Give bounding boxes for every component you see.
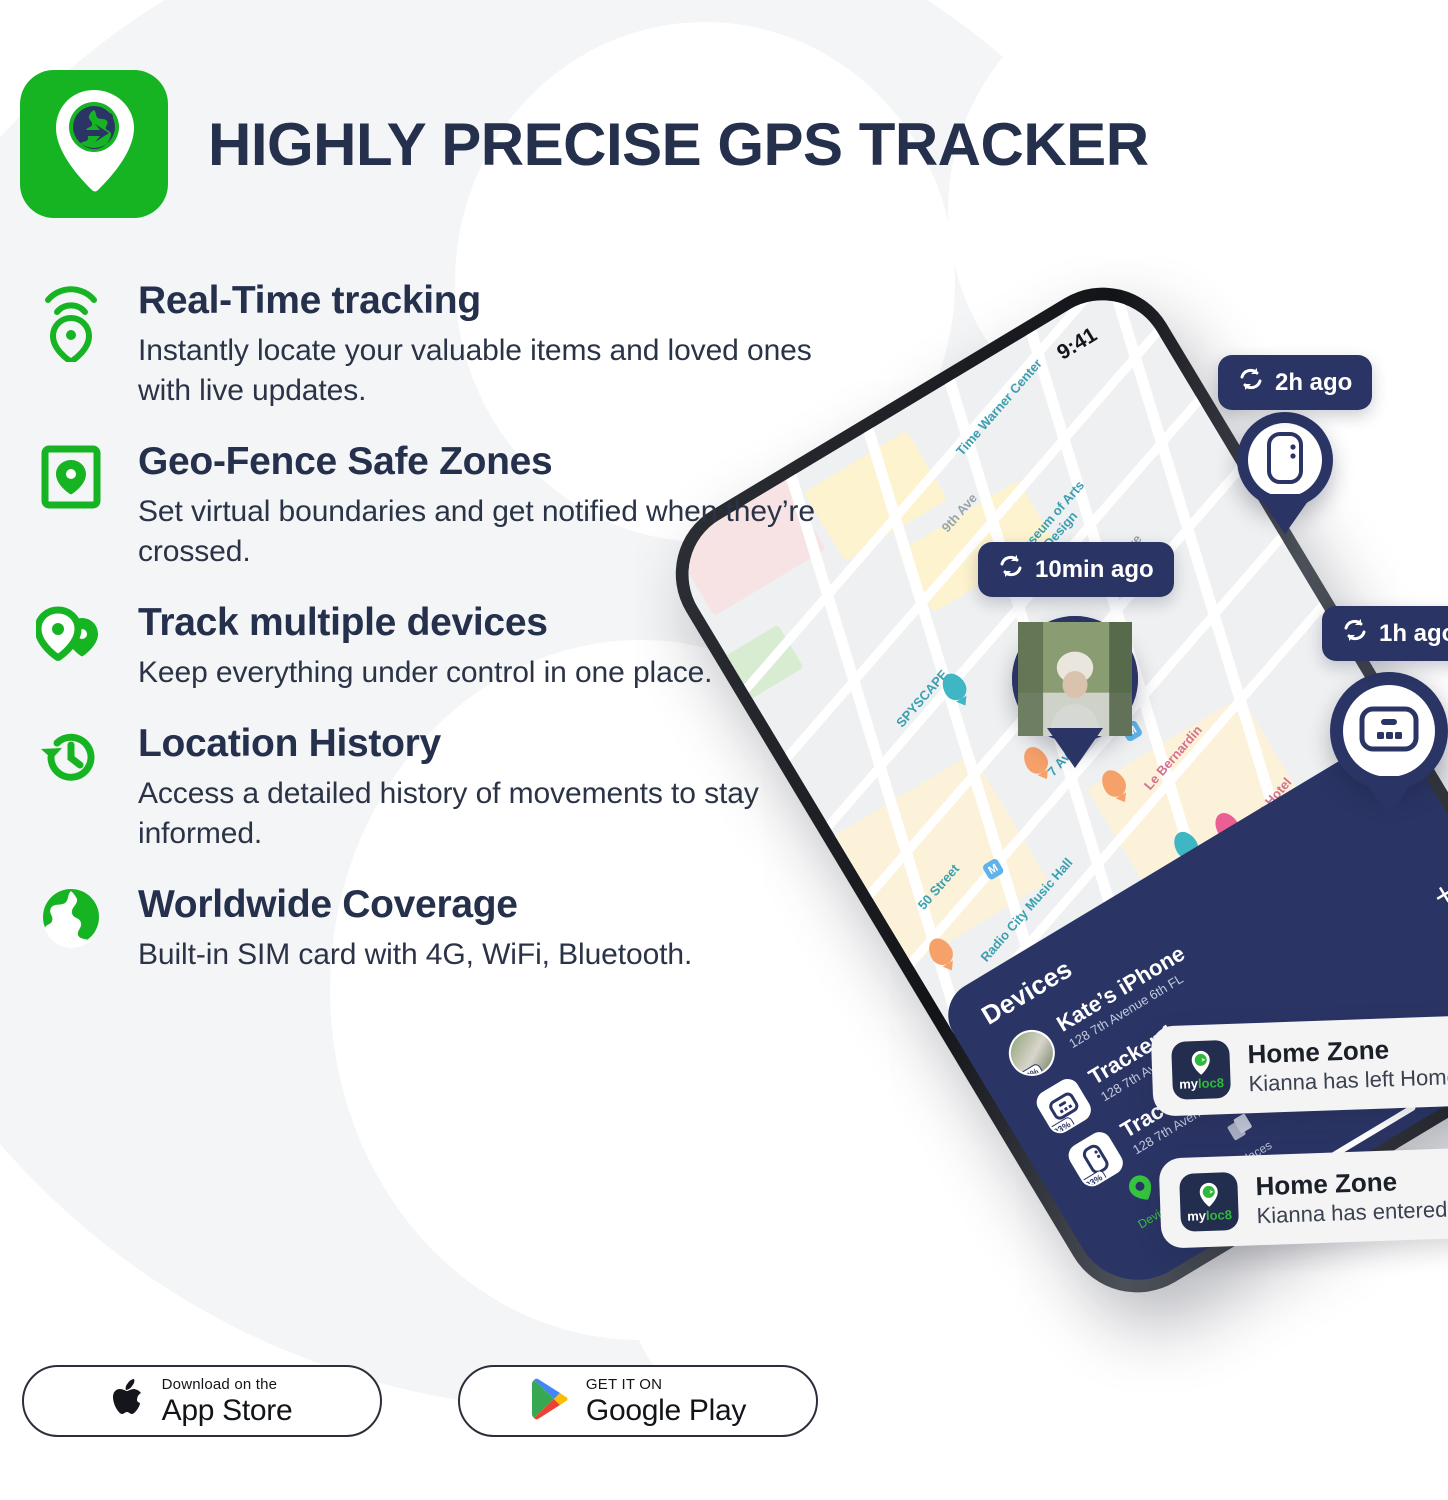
map-label: Time Warner Center	[953, 356, 1045, 459]
feature-desc: Instantly locate your valuable items and…	[138, 331, 838, 411]
feature-title: Location History	[138, 723, 866, 765]
time-badge-2h: 2h ago	[1218, 355, 1372, 410]
notification-card[interactable]: myloc8 Home Zone Kianna has left Home	[1151, 1013, 1448, 1116]
app-logo	[20, 70, 168, 218]
google-play-icon	[530, 1378, 570, 1425]
tracker-device-icon: 93%	[1032, 1074, 1095, 1137]
feature-desc: Keep everything under control in one pla…	[138, 653, 838, 693]
notification-title: Home Zone	[1255, 1163, 1448, 1200]
gps-device-icon	[1358, 704, 1420, 759]
refresh-icon	[998, 553, 1024, 586]
app-store-button[interactable]: Download on the App Store	[22, 1365, 382, 1437]
refresh-icon	[1238, 366, 1264, 399]
pin-icon	[1123, 1169, 1162, 1211]
feature-item-location-history: Location History Access a detailed histo…	[36, 721, 866, 854]
feature-title: Worldwide Coverage	[138, 884, 866, 926]
app-icon: myloc8	[1179, 1172, 1239, 1232]
geofence-square-pin-icon	[36, 439, 106, 517]
google-play-big-label: Google Play	[586, 1396, 746, 1426]
app-store-big-label: App Store	[162, 1396, 293, 1426]
battery-badge: 93%	[1015, 1062, 1045, 1084]
feature-desc: Access a detailed history of movements t…	[138, 774, 838, 854]
notification-card[interactable]: myloc8 Home Zone Kianna has entered Home	[1159, 1145, 1448, 1248]
time-badge-10min: 10min ago	[978, 542, 1174, 597]
google-play-button[interactable]: GET IT ON Google Play	[458, 1365, 818, 1437]
header: HIGHLY PRECISE GPS TRACKER	[20, 70, 1149, 218]
feature-item-track-multiple-devices: Track multiple devices Keep everything u…	[36, 600, 866, 693]
feature-title: Geo-Fence Safe Zones	[138, 441, 866, 483]
feature-item-real-time-tracking: Real-Time tracking Instantly locate your…	[36, 278, 866, 411]
time-badge-1h: 1h ago	[1322, 606, 1448, 661]
map-pin-tracker[interactable]	[1237, 412, 1333, 508]
app-name: myloc8	[1187, 1208, 1232, 1223]
feature-list: Real-Time tracking Instantly locate your…	[36, 278, 866, 1003]
store-buttons: Download on the App Store GET IT ON Goog…	[22, 1365, 818, 1437]
google-play-small-label: GET IT ON	[586, 1377, 746, 1392]
feature-title: Track multiple devices	[138, 602, 866, 644]
realtime-signal-pin-icon	[36, 278, 106, 356]
tracker-tag-icon	[1265, 431, 1305, 490]
app-name: myloc8	[1179, 1076, 1224, 1091]
person-photo-avatar	[1012, 616, 1138, 742]
feature-desc: Set virtual boundaries and get notified …	[138, 492, 838, 572]
avatar: 93%	[1000, 1021, 1063, 1084]
app-icon: myloc8	[1171, 1040, 1231, 1100]
notification-body: Kianna has left Home	[1248, 1064, 1448, 1097]
apple-icon	[112, 1379, 146, 1424]
app-store-small-label: Download on the	[162, 1377, 293, 1392]
feature-item-worldwide-coverage: Worldwide Coverage Built-in SIM card wit…	[36, 882, 866, 975]
clock-history-icon	[36, 721, 106, 799]
location-pin-globe-icon	[46, 86, 142, 203]
feature-item-geo-fence-safe-zones: Geo-Fence Safe Zones Set virtual boundar…	[36, 439, 866, 572]
page-title: HIGHLY PRECISE GPS TRACKER	[208, 110, 1149, 179]
places-icon	[1222, 1110, 1260, 1150]
refresh-icon	[1342, 617, 1368, 650]
globe-icon	[36, 882, 106, 960]
time-badge-label: 2h ago	[1275, 369, 1352, 397]
feature-desc: Built-in SIM card with 4G, WiFi, Bluetoo…	[138, 935, 838, 975]
notification-title: Home Zone	[1247, 1033, 1448, 1069]
person-icon	[1443, 977, 1448, 1017]
time-badge-label: 1h ago	[1379, 620, 1448, 648]
time-badge-label: 10min ago	[1035, 556, 1154, 584]
multiple-pins-icon	[36, 600, 106, 678]
map-pin-person[interactable]	[1012, 616, 1138, 742]
promo-page: HIGHLY PRECISE GPS TRACKER Real-Time tra…	[0, 0, 1448, 1500]
feature-title: Real-Time tracking	[138, 280, 866, 322]
map-pin-device[interactable]	[1330, 672, 1448, 790]
